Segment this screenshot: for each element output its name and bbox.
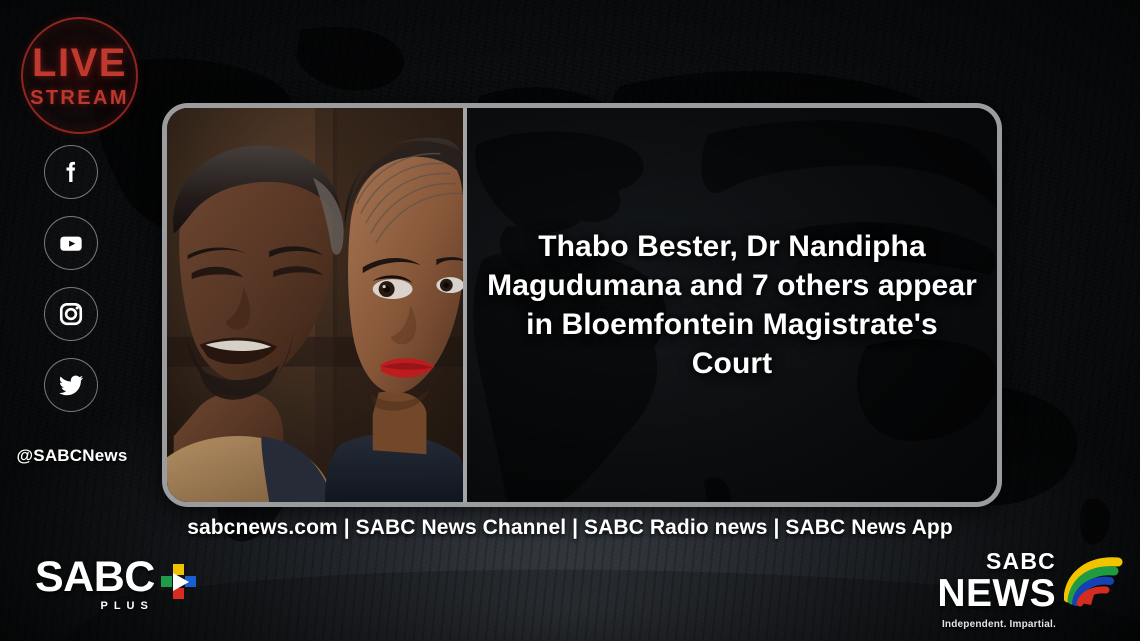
sabc-plus-subtext: PLUS bbox=[101, 600, 154, 612]
social-media-rail bbox=[44, 145, 98, 412]
headline-text: Thabo Bester, Dr Nandipha Magudumana and… bbox=[467, 227, 997, 383]
social-link-twitter[interactable] bbox=[44, 358, 98, 412]
live-stream-badge: LIVE STREAM bbox=[21, 17, 138, 134]
sabc-news-line2: NEWS bbox=[937, 574, 1056, 614]
sabc-news-line1: SABC bbox=[937, 550, 1056, 573]
sabc-plus-play-mark bbox=[160, 563, 198, 601]
sabc-swoosh-icon bbox=[1064, 556, 1124, 608]
facebook-icon bbox=[56, 157, 86, 187]
broadcast-lower-third-graphic: LIVE STREAM @SABC bbox=[0, 0, 1140, 641]
social-link-instagram[interactable] bbox=[44, 287, 98, 341]
sabc-news-tagline: Independent. Impartial. bbox=[937, 619, 1056, 630]
youtube-icon bbox=[55, 227, 87, 259]
twitter-icon bbox=[56, 370, 87, 401]
news-card: Thabo Bester, Dr Nandipha Magudumana and… bbox=[162, 103, 1002, 507]
instagram-icon bbox=[56, 299, 86, 329]
accused-photo-image bbox=[167, 108, 463, 502]
social-link-facebook[interactable] bbox=[44, 145, 98, 199]
live-label: LIVE bbox=[32, 43, 127, 83]
headline-panel: Thabo Bester, Dr Nandipha Magudumana and… bbox=[467, 108, 997, 502]
sabc-plus-logo: SABC PLUS bbox=[35, 558, 198, 601]
sabc-news-logo: SABC NEWS Independent. Impartial. bbox=[937, 550, 1124, 630]
accused-photo bbox=[167, 108, 467, 502]
stream-label: STREAM bbox=[30, 88, 129, 108]
channel-ticker: sabcnews.com | SABC News Channel | SABC … bbox=[0, 516, 1140, 540]
social-link-youtube[interactable] bbox=[44, 216, 98, 270]
social-handle: @SABCNews bbox=[9, 446, 135, 466]
sabc-plus-wordmark: SABC bbox=[35, 558, 155, 598]
